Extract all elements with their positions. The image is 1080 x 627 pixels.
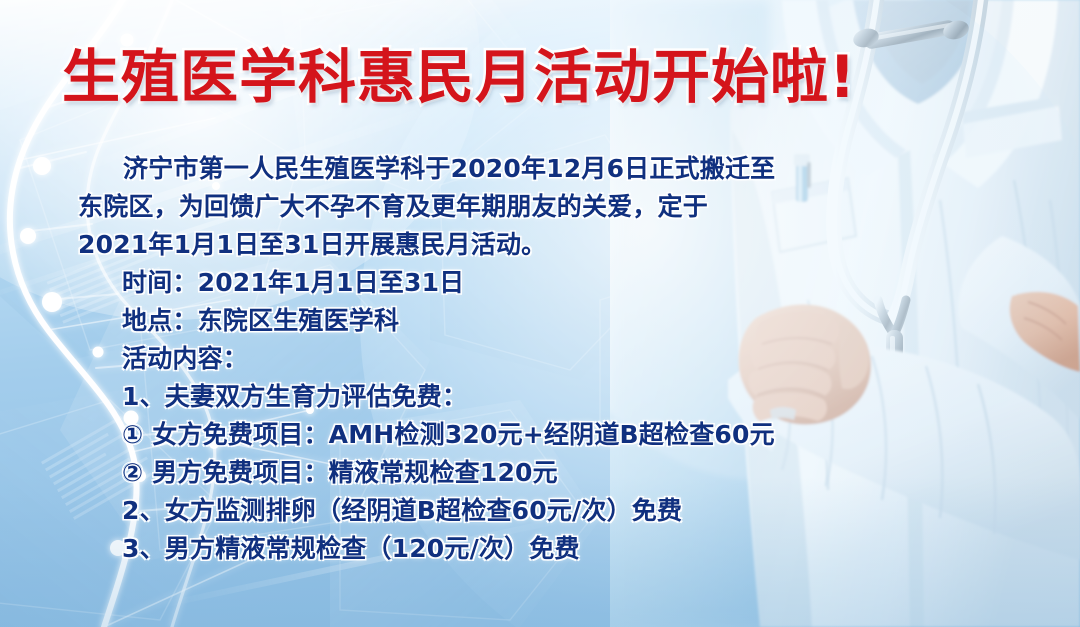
activity-item-1: 1、夫妻双方生育力评估免费： [78,378,798,416]
activity-item-3: 3、男方精液常规检查（120元/次）免费 [78,530,798,568]
poster-canvas: 生殖医学科惠民月活动开始啦! 济宁市第一人民生殖医学科于2020年12月6日正式… [0,0,1080,627]
activity-item-2: 2、女方监测排卵（经阴道B超检查60元/次）免费 [78,492,798,530]
event-content-label: 活动内容： [78,340,798,378]
activity-item-1-female: ① 女方免费项目：AMH检测320元+经阴道B超检查60元 [78,416,798,454]
announcement-body: 济宁市第一人民生殖医学科于2020年12月6日正式搬迁至东院区，为回馈广大不孕不… [78,150,798,568]
page-title: 生殖医学科惠民月活动开始啦! [62,48,856,106]
event-time: 时间：2021年1月1日至31日 [78,264,798,302]
activity-item-1-male: ② 男方免费项目：精液常规检查120元 [78,454,798,492]
event-place: 地点：东院区生殖医学科 [78,302,798,340]
intro-paragraph: 济宁市第一人民生殖医学科于2020年12月6日正式搬迁至东院区，为回馈广大不孕不… [78,150,778,264]
